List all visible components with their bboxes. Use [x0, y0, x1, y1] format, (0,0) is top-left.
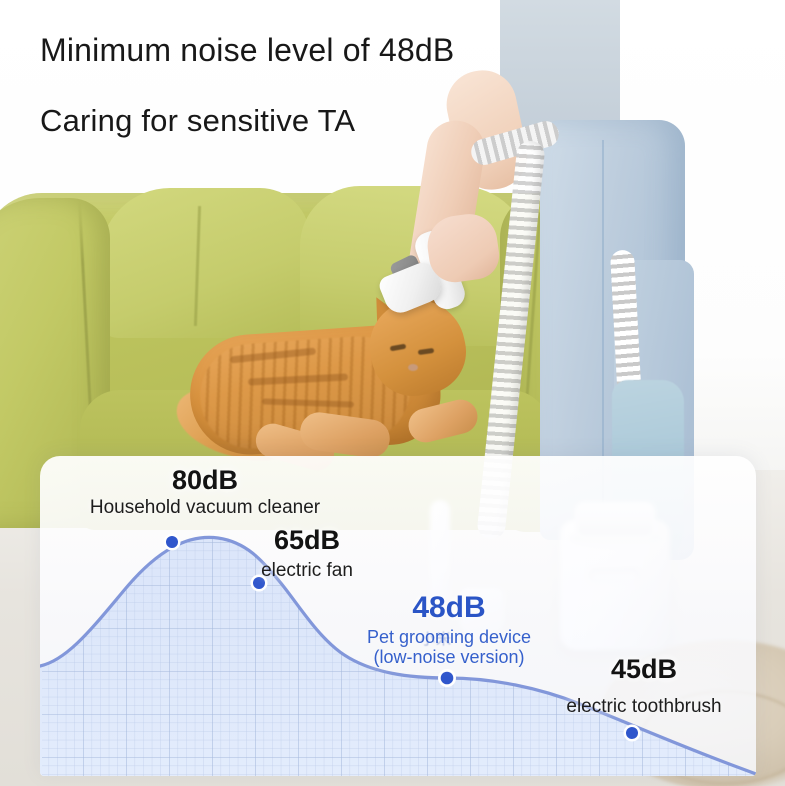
- value-80db: 80dB: [40, 466, 370, 494]
- label-pet-grooming-device: 48dB Pet grooming device (low-noise vers…: [338, 592, 560, 668]
- cat-nose: [408, 364, 418, 371]
- value-48db: 48dB: [338, 592, 560, 624]
- data-point-pet-grooming[interactable]: [438, 669, 456, 687]
- armchair-cushion-left: [100, 188, 310, 338]
- value-65db: 65dB: [212, 526, 402, 554]
- name-pet-grooming-device-version: (low-noise version): [338, 647, 560, 668]
- label-electric-fan: 65dB electric fan: [212, 526, 402, 582]
- data-point-toothbrush[interactable]: [624, 725, 641, 742]
- label-household-vacuum: 80dB Household vacuum cleaner: [40, 466, 370, 519]
- data-point-vacuum[interactable]: [164, 534, 181, 551]
- label-electric-toothbrush: 45dB electric toothbrush: [540, 655, 748, 718]
- name-household-vacuum: Household vacuum cleaner: [40, 497, 370, 519]
- value-45db: 45dB: [540, 655, 748, 683]
- name-electric-fan: electric fan: [212, 560, 402, 582]
- name-pet-grooming-device: Pet grooming device: [338, 627, 560, 648]
- headline-secondary: Caring for sensitive TA: [40, 103, 355, 139]
- name-electric-toothbrush: electric toothbrush: [540, 696, 748, 718]
- headline-primary: Minimum noise level of 48dB: [40, 32, 454, 69]
